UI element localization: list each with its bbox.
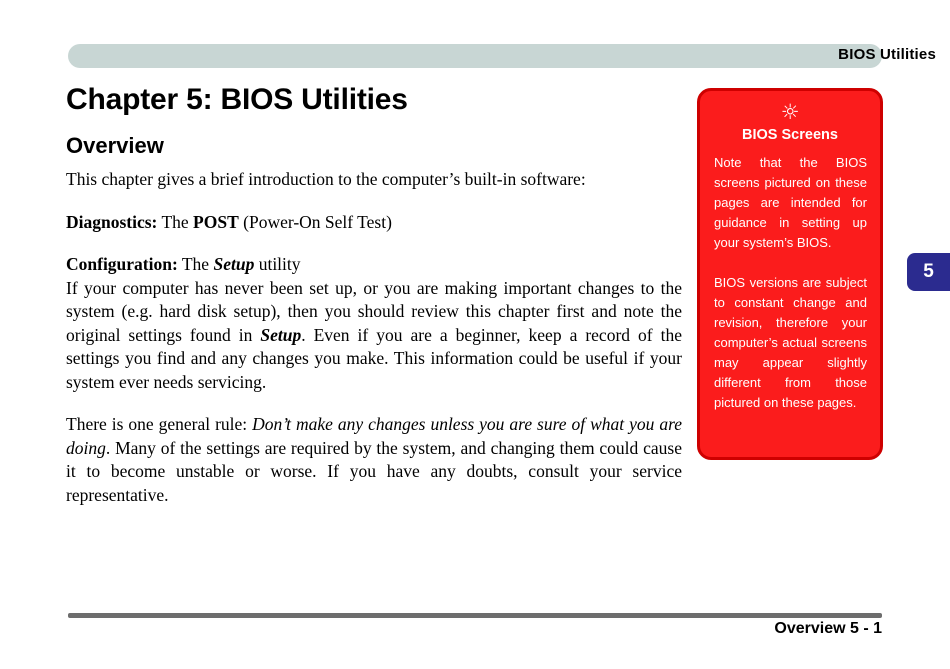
section-title: Overview: [66, 132, 682, 160]
note-paragraph-2: BIOS versions are subject to constant ch…: [714, 273, 867, 413]
diagnostics-text-1: The: [157, 212, 193, 232]
page-title: Chapter 5: BIOS Utilities: [66, 80, 682, 120]
warning-beacon-icon: ☼: [700, 101, 880, 123]
header-title: BIOS Utilities: [838, 46, 936, 63]
configuration-label: Configuration:: [66, 254, 178, 274]
setup-emphasis: Setup: [260, 325, 301, 345]
configuration-paragraph: Configuration: The Setup utility: [66, 253, 682, 277]
configuration-text-2: utility: [254, 254, 300, 274]
body-paragraph-2-part-1: There is one general rule:: [66, 414, 252, 434]
note-box: ☼ BIOS Screens Note that the BIOS screen…: [697, 88, 883, 460]
chapter-number-tab: 5: [907, 253, 950, 291]
setup-term: Setup: [213, 254, 254, 274]
intro-paragraph: This chapter gives a brief introduction …: [66, 168, 682, 192]
diagnostics-label: Diagnostics:: [66, 212, 157, 232]
post-term: POST: [193, 212, 239, 232]
note-body: Note that the BIOS screens pictured on t…: [714, 153, 867, 413]
body-paragraph-1: If your computer has never been set up, …: [66, 277, 682, 395]
body-paragraph-2-part-2: . Many of the settings are required by t…: [66, 438, 682, 505]
body-paragraph-2: There is one general rule: Don’t make an…: [66, 413, 682, 507]
main-content: Chapter 5: BIOS Utilities Overview This …: [66, 80, 682, 507]
footer-page-number: Overview 5 - 1: [774, 620, 882, 638]
note-paragraph-1: Note that the BIOS screens pictured on t…: [714, 153, 867, 253]
header-bar: [68, 44, 882, 68]
diagnostics-text-2: (Power-On Self Test): [239, 212, 392, 232]
note-title: BIOS Screens: [700, 127, 880, 143]
footer-rule: [68, 613, 882, 618]
configuration-text-1: The: [178, 254, 214, 274]
diagnostics-paragraph: Diagnostics: The POST (Power-On Self Tes…: [66, 211, 682, 235]
